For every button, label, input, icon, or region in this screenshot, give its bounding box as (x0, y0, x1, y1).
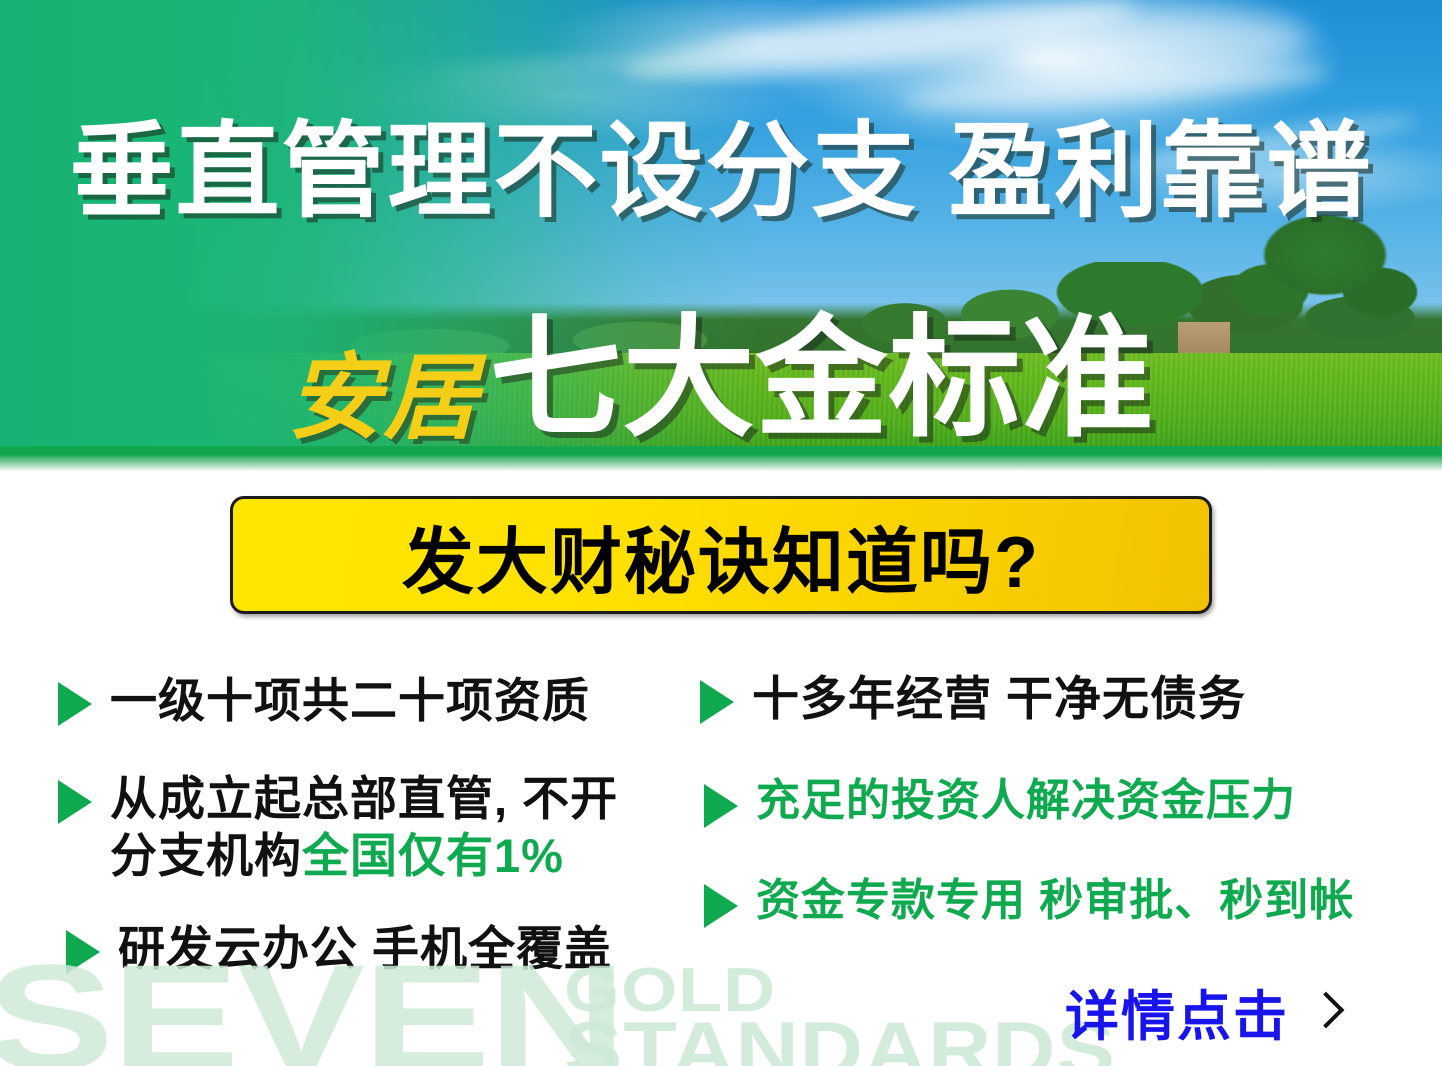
triangle-bullet-icon (58, 780, 92, 824)
feature-item: 充足的投资人解决资金压力 (704, 774, 1296, 828)
feature-text-multiline: 从成立起总部直管, 不开 分支机构全国仅有1% (110, 770, 630, 885)
feature-item: 研发云办公 手机全覆盖 (66, 920, 612, 977)
features-section: 一级十项共二十项资质 从成立起总部直管, 不开 分支机构全国仅有1% 研发云办公… (0, 648, 1442, 1008)
watermark-line-standards: STANDARDS (564, 1010, 1116, 1066)
feature-text: 研发云办公 手机全覆盖 (118, 920, 612, 977)
feature-item: 资金专款专用 秒审批、秒到帐 (704, 874, 1354, 928)
detail-link[interactable]: 详情点击 (1065, 972, 1333, 1051)
hero-section: 垂直管理不设分支 盈利靠谱 安居七大金标准 (0, 0, 1442, 470)
feature-text-line1: 从成立起总部直管, 不开 (110, 772, 618, 825)
triangle-bullet-icon (704, 884, 738, 928)
feature-text: 十多年经营 干净无债务 (752, 670, 1246, 727)
chevron-right-icon (1311, 991, 1333, 1033)
hero-headline-top: 垂直管理不设分支 盈利靠谱 (0, 118, 1442, 227)
advertisement-banner: 垂直管理不设分支 盈利靠谱 安居七大金标准 发大财秘诀知道吗? 一级十项共二十项… (0, 0, 1442, 1066)
feature-item: 从成立起总部直管, 不开 分支机构全国仅有1% (58, 770, 630, 885)
feature-item: 一级十项共二十项资质 (58, 672, 590, 729)
triangle-bullet-icon (704, 784, 738, 828)
hero-headline-main-row: 安居七大金标准 (0, 272, 1442, 463)
triangle-bullet-icon (700, 680, 734, 724)
feature-item: 十多年经营 干净无债务 (700, 670, 1246, 727)
feature-text: 资金专款专用 秒审批、秒到帐 (756, 874, 1354, 928)
cta-banner-label: 发大财秘诀知道吗? (402, 503, 1040, 608)
feature-text: 一级十项共二十项资质 (110, 672, 590, 729)
feature-text-highlight: 全国仅有1% (302, 829, 564, 882)
triangle-bullet-icon (58, 682, 92, 726)
feature-text: 充足的投资人解决资金压力 (756, 774, 1296, 828)
hero-brand-word: 安居 (287, 345, 479, 450)
cta-banner-button[interactable]: 发大财秘诀知道吗? (230, 496, 1212, 614)
feature-text-line2-plain: 分支机构 (110, 829, 302, 882)
detail-link-label: 详情点击 (1065, 972, 1289, 1051)
triangle-bullet-icon (66, 930, 100, 974)
hero-headline-main: 七大金标准 (490, 305, 1155, 452)
